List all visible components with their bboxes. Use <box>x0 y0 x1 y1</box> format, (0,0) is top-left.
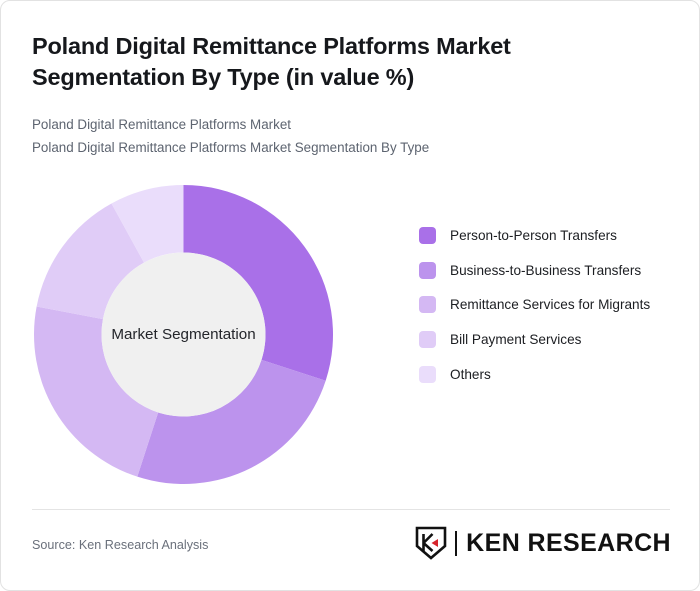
chart-legend: Person-to-Person TransfersBusiness-to-Bu… <box>419 226 681 400</box>
subtitle-line-1: Poland Digital Remittance Platforms Mark… <box>32 114 652 137</box>
legend-label: Business-to-Business Transfers <box>450 261 641 281</box>
footer-divider <box>32 509 670 510</box>
brand-logo: KEN RESEARCH <box>414 525 671 561</box>
legend-item[interactable]: Business-to-Business Transfers <box>419 261 681 281</box>
donut-inner-circle <box>102 253 266 417</box>
subtitle-block: Poland Digital Remittance Platforms Mark… <box>32 114 652 159</box>
legend-swatch <box>419 227 436 244</box>
legend-label: Remittance Services for Migrants <box>450 295 650 315</box>
legend-label: Bill Payment Services <box>450 330 581 350</box>
legend-item[interactable]: Remittance Services for Migrants <box>419 295 681 315</box>
donut-chart: Market Segmentation <box>34 185 333 484</box>
source-note: Source: Ken Research Analysis <box>32 538 208 552</box>
legend-swatch <box>419 296 436 313</box>
chart-card: Poland Digital Remittance Platforms Mark… <box>0 0 700 591</box>
legend-swatch <box>419 262 436 279</box>
page-title: Poland Digital Remittance Platforms Mark… <box>32 31 632 93</box>
legend-item[interactable]: Bill Payment Services <box>419 330 681 350</box>
logo-wordmark: KEN RESEARCH <box>466 529 671 558</box>
legend-swatch <box>419 331 436 348</box>
legend-label: Others <box>450 365 491 385</box>
logo-separator <box>455 531 457 556</box>
ken-research-shield-icon <box>414 526 448 560</box>
legend-swatch <box>419 366 436 383</box>
donut-svg <box>34 185 333 484</box>
chart-area: Market Segmentation Person-to-Person Tra… <box>1 171 700 501</box>
legend-item[interactable]: Person-to-Person Transfers <box>419 226 681 246</box>
subtitle-line-2: Poland Digital Remittance Platforms Mark… <box>32 137 652 160</box>
legend-item[interactable]: Others <box>419 365 681 385</box>
legend-label: Person-to-Person Transfers <box>450 226 617 246</box>
